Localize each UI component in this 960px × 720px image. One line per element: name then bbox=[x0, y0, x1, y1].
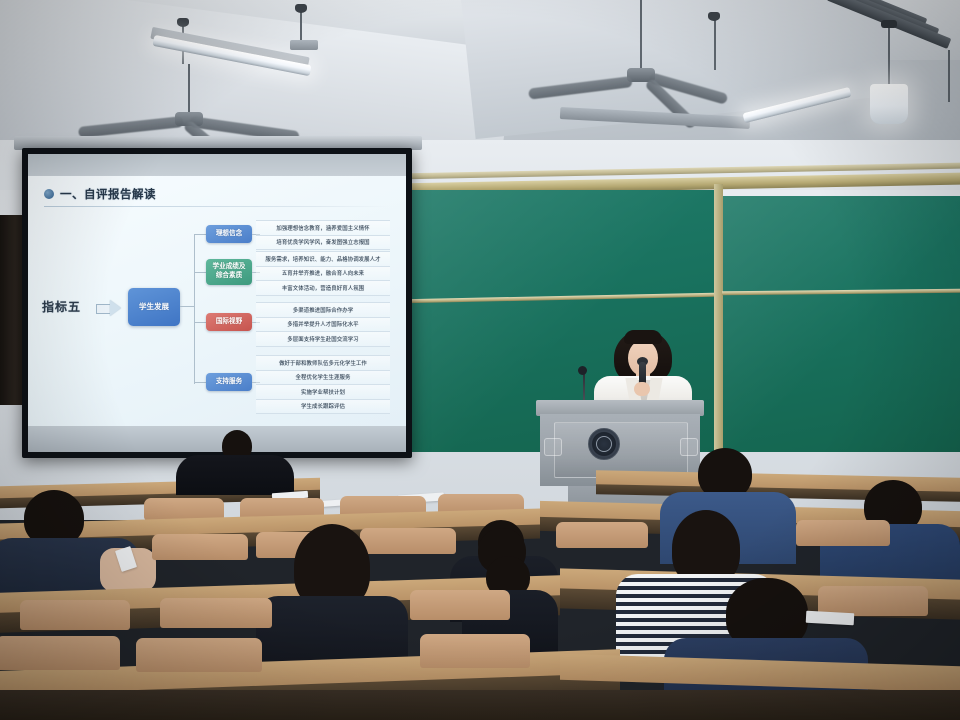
chair-back-r4-1 bbox=[0, 636, 120, 670]
row-text: 多层面支持学生赴国交流学习 bbox=[287, 335, 358, 343]
fan-rod-2 bbox=[640, 0, 642, 70]
projection-screen: 一、自评报告解读 指标五 学生发展 bbox=[28, 154, 406, 452]
row-text: 服务需求，培养知识、能力、品格协调发展人才 bbox=[265, 255, 380, 263]
chair-back-r3-2 bbox=[160, 598, 272, 628]
row-text: 丰富文体活动，营造良好育人氛围 bbox=[282, 284, 364, 292]
pendant-rod-1 bbox=[888, 22, 890, 88]
chair-back-r4-3 bbox=[420, 634, 530, 668]
indicator-label: 指标五 bbox=[42, 298, 81, 315]
blackboard-sheen-right bbox=[722, 196, 960, 452]
branch-node-2: 学业成绩及综合素质 bbox=[206, 259, 252, 285]
row-text: 培育优良学风学风，奋发图强立志报国 bbox=[276, 238, 369, 246]
branch-rows-2: 服务需求，培养知识、能力、品格协调发展人才 五育并举齐推进，融合育人向未来 丰富… bbox=[256, 251, 390, 296]
table-row: 多层面支持学生赴国交流学习 bbox=[256, 332, 390, 347]
slide-header: 一、自评报告解读 bbox=[44, 186, 156, 202]
paper-sheet-4 bbox=[806, 611, 855, 625]
branch-connector-4 bbox=[194, 382, 206, 383]
table-row: 加强理想信念教育，涵养爱国主义情怀 bbox=[256, 220, 390, 236]
chair-back-r2-3 bbox=[360, 528, 456, 554]
row-text: 全程优化学生生涯服务 bbox=[296, 373, 351, 381]
table-row: 服务需求，培养知识、能力、品格协调发展人才 bbox=[256, 251, 390, 267]
center-node-label: 学生发展 bbox=[139, 302, 169, 311]
tube-light-shade-2 bbox=[290, 40, 318, 50]
arrow-head bbox=[110, 300, 121, 316]
row-text: 多措并举提升人才国际化水平 bbox=[287, 320, 358, 328]
bullet-circle-icon bbox=[44, 189, 54, 199]
row-text: 多渠道推进国际合作办学 bbox=[293, 306, 353, 314]
podium-inset-panel bbox=[554, 422, 688, 478]
branch-label-3: 国际视野 bbox=[214, 318, 244, 327]
light-rod-cap-1 bbox=[177, 18, 189, 27]
table-row: 学生成长跟踪评估 bbox=[256, 400, 390, 415]
trunk-vertical bbox=[194, 234, 195, 384]
branch-connector-2 bbox=[194, 272, 206, 273]
screen-lower-edge bbox=[28, 426, 406, 452]
table-row: 培育优良学风学风，奋发图强立志报国 bbox=[256, 236, 390, 251]
pendant-rod-2 bbox=[948, 50, 950, 102]
audience-body-1 bbox=[176, 455, 294, 495]
row-text: 加强理想信念教育，涵养爱国主义情怀 bbox=[276, 224, 369, 232]
slide-diagram: 指标五 学生发展 理想信念 bbox=[28, 210, 406, 424]
audience-body-6 bbox=[256, 596, 408, 666]
table-row: 实施学业帮扶计划 bbox=[256, 385, 390, 400]
gooseneck-microphone-stem bbox=[583, 372, 585, 402]
table-row: 全程优化学生生涯服务 bbox=[256, 371, 390, 386]
branch-node-3: 国际视野 bbox=[206, 313, 252, 331]
fan-rod-1 bbox=[188, 64, 190, 114]
branch-rows-1: 加强理想信念教育，涵养爱国主义情怀 培育优良学风学风，奋发图强立志报国 bbox=[256, 220, 390, 250]
branch-label-4: 支持服务 bbox=[214, 378, 244, 387]
slide-title: 一、自评报告解读 bbox=[60, 186, 156, 202]
chair-back-r2-4 bbox=[556, 522, 648, 548]
branch-label-1: 理想信念 bbox=[214, 230, 244, 239]
branch-label-2: 学业成绩及综合素质 bbox=[211, 263, 248, 280]
chair-back-r3-3 bbox=[410, 590, 510, 620]
gooseneck-microphone-head bbox=[578, 366, 587, 375]
university-seal-icon bbox=[588, 428, 620, 460]
light-rod-cap-2 bbox=[295, 4, 307, 13]
lecture-hall-photo: 一、自评报告解读 指标五 学生发展 bbox=[0, 0, 960, 720]
row-text: 五育并举齐推进，融合育人向未来 bbox=[282, 269, 364, 277]
seal-inner-ring bbox=[596, 436, 612, 452]
arrow-right-icon bbox=[96, 300, 122, 316]
table-row: 丰富文体活动，营造良好育人氛围 bbox=[256, 281, 390, 296]
chair-back-r2-1 bbox=[152, 534, 248, 560]
branch-rows-3: 多渠道推进国际合作办学 多措并举提升人才国际化水平 多层面支持学生赴国交流学习 bbox=[256, 302, 390, 347]
branch-connector-1 bbox=[194, 234, 206, 235]
branch-rows-4: 做好于部和教师队伍多元化学生工作 全程优化学生生涯服务 实施学业帮扶计划 学生成… bbox=[256, 355, 390, 414]
chair-back-r3-1 bbox=[20, 600, 130, 630]
podium-handle-left bbox=[544, 438, 562, 456]
blackboard-vertical-divider bbox=[714, 184, 723, 454]
podium-handle-right bbox=[680, 438, 698, 456]
diagram-center-node: 学生发展 bbox=[128, 288, 180, 326]
speaker-fringe bbox=[624, 330, 662, 344]
table-row: 多措并举提升人才国际化水平 bbox=[256, 318, 390, 333]
chair-back-r2-5 bbox=[796, 520, 890, 546]
trunk-stem bbox=[180, 306, 195, 307]
pendant-light-1 bbox=[870, 84, 908, 124]
projection-screen-frame: 一、自评报告解读 指标五 学生发展 bbox=[22, 148, 412, 458]
row-text: 实施学业帮扶计划 bbox=[301, 388, 345, 396]
row-text: 做好于部和教师队伍多元化学生工作 bbox=[279, 359, 367, 367]
table-row: 多渠道推进国际合作办学 bbox=[256, 302, 390, 318]
fan-rod-3 bbox=[714, 14, 716, 70]
speaker-hand bbox=[634, 382, 650, 396]
branch-connector-3 bbox=[194, 322, 206, 323]
presentation-slide: 一、自评报告解读 指标五 学生发展 bbox=[28, 176, 406, 426]
row-text: 学生成长跟踪评估 bbox=[301, 402, 345, 410]
branch-node-4: 支持服务 bbox=[206, 373, 252, 391]
table-row: 五育并举齐推进，融合育人向未来 bbox=[256, 267, 390, 282]
floor bbox=[0, 690, 960, 720]
slide-title-underline bbox=[44, 206, 388, 207]
table-row: 做好于部和教师队伍多元化学生工作 bbox=[256, 355, 390, 371]
pendant-cap-1 bbox=[881, 20, 897, 28]
branch-node-1: 理想信念 bbox=[206, 225, 252, 243]
fan-rod-cap-3 bbox=[708, 12, 720, 21]
blackboard-right-panel bbox=[722, 196, 960, 452]
chair-back-r4-2 bbox=[136, 638, 262, 672]
